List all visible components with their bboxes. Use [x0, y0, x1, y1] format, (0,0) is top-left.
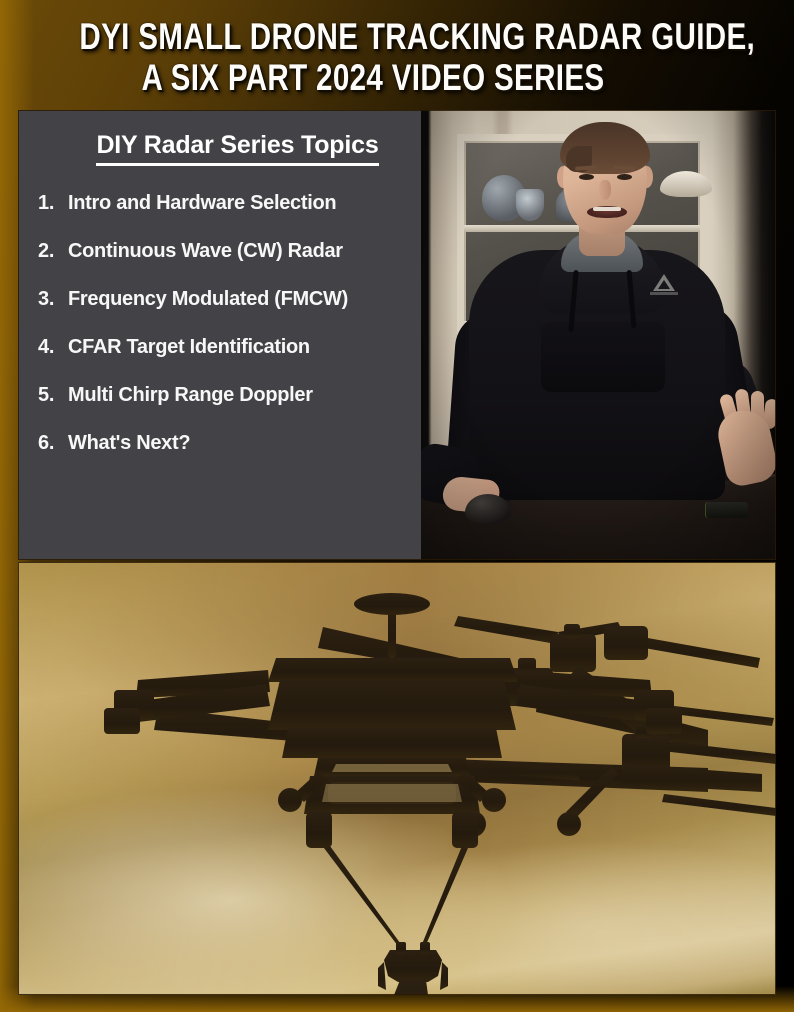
- topic-number: 4.: [38, 336, 68, 359]
- headline-line-2: A SIX PART 2024 VIDEO SERIES: [79, 57, 714, 98]
- page-title: DYI SMALL DRONE TRACKING RADAR GUIDE, A …: [0, 16, 794, 98]
- triangle-inner-icon: [658, 280, 670, 289]
- drone-photo: [18, 562, 776, 995]
- topic-number: 2.: [38, 240, 68, 263]
- topics-slide: DIY Radar Series Topics 1. Intro and Har…: [18, 110, 421, 560]
- video-still-frame: DIY Radar Series Topics 1. Intro and Har…: [18, 110, 776, 560]
- poster-background: DYI SMALL DRONE TRACKING RADAR GUIDE, A …: [0, 0, 794, 1012]
- topic-label: Frequency Modulated (FMCW): [68, 288, 348, 311]
- topics-list: 1. Intro and Hardware Selection 2. Conti…: [38, 192, 413, 455]
- hoodie-brand-logo-icon: [653, 274, 675, 294]
- logo-wordmark: [650, 292, 678, 295]
- topic-item: 6. What's Next?: [38, 432, 413, 455]
- topic-label: CFAR Target Identification: [68, 336, 310, 359]
- phone-on-desk: [706, 502, 748, 518]
- topic-label: Intro and Hardware Selection: [68, 192, 336, 215]
- topic-label: Multi Chirp Range Doppler: [68, 384, 313, 407]
- topic-item: 2. Continuous Wave (CW) Radar: [38, 240, 413, 263]
- topic-label: What's Next?: [68, 432, 190, 455]
- headline-line-1: DYI SMALL DRONE TRACKING RADAR GUIDE,: [79, 16, 714, 57]
- computer-mouse: [465, 494, 511, 524]
- eye: [617, 174, 632, 180]
- nose: [599, 180, 611, 200]
- drone-silhouette-icon: [18, 562, 776, 995]
- eye: [579, 174, 594, 180]
- topic-label: Continuous Wave (CW) Radar: [68, 240, 343, 263]
- mouth: [587, 206, 627, 218]
- presenter-figure: [421, 110, 776, 560]
- topic-item: 1. Intro and Hardware Selection: [38, 192, 413, 215]
- topic-number: 6.: [38, 432, 68, 455]
- hoodie-pocket: [541, 322, 665, 392]
- presenter-photo: [421, 110, 776, 560]
- topic-number: 5.: [38, 384, 68, 407]
- topic-number: 1.: [38, 192, 68, 215]
- topic-item: 3. Frequency Modulated (FMCW): [38, 288, 413, 311]
- hair: [560, 122, 650, 174]
- topic-number: 3.: [38, 288, 68, 311]
- topic-item: 4. CFAR Target Identification: [38, 336, 413, 359]
- topics-slide-title: DIY Radar Series Topics: [96, 131, 378, 166]
- topic-item: 5. Multi Chirp Range Doppler: [38, 384, 413, 407]
